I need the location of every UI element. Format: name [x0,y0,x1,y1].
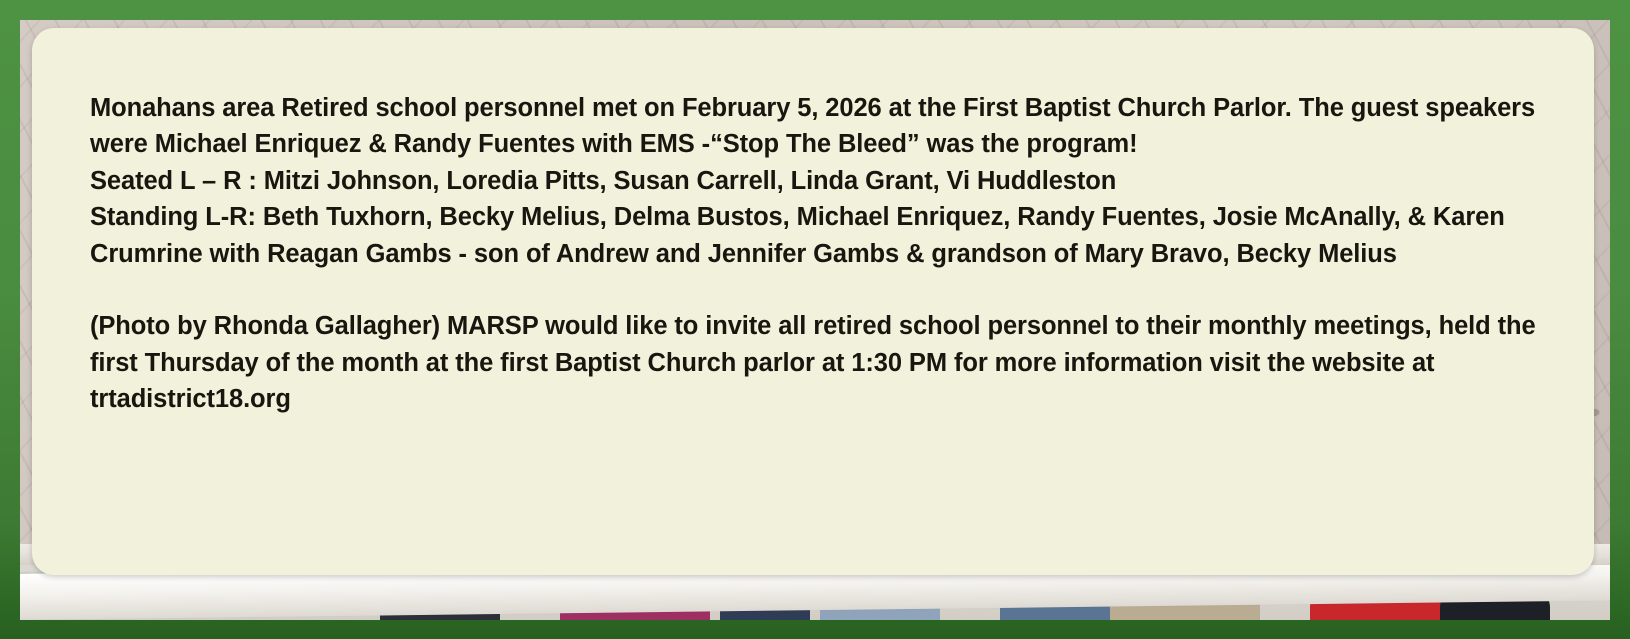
caption-paragraph-1: Monahans area Retired school personnel m… [90,90,1538,272]
screenshot-root: Monahans area Retired school personnel m… [0,0,1630,639]
caption-paragraph-2: (Photo by Rhonda Gallagher) MARSP would … [90,308,1538,417]
caption-card: Monahans area Retired school personnel m… [32,28,1594,575]
